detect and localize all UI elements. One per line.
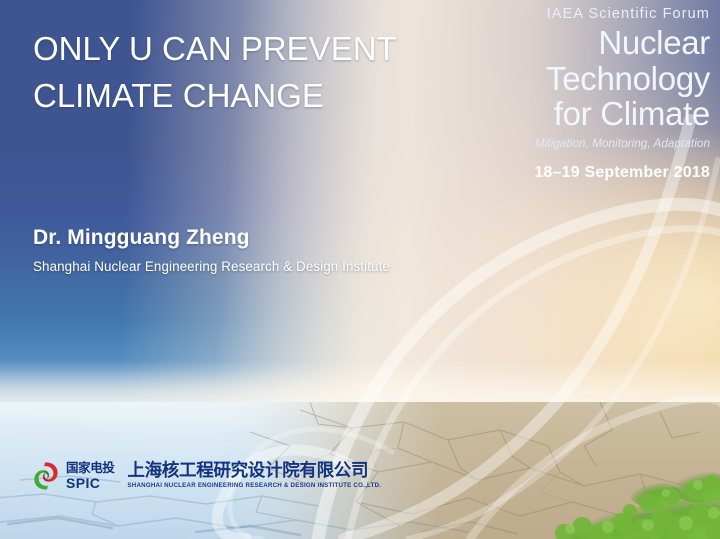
- headline-line-1: ONLY U CAN PREVENT: [33, 26, 463, 73]
- spic-chinese-name: 国家电投: [66, 462, 114, 475]
- spic-swirl-icon: [33, 461, 59, 491]
- event-title-line-3: for Climate: [460, 96, 710, 132]
- institute-wordmark: 上海核工程研究设计院有限公司 SHANGHAI NUCLEAR ENGINEER…: [127, 463, 381, 489]
- grass-patch: [530, 453, 720, 539]
- institute-english-name: SHANGHAI NUCLEAR ENGINEERING RESEARCH & …: [127, 483, 381, 489]
- event-kicker: IAEA Scientific Forum: [460, 6, 710, 22]
- event-title-line-2: Technology: [460, 61, 710, 97]
- event-subtitle: Mitigation, Monitoring, Adaptation: [460, 137, 710, 150]
- author-block: Dr. Mingguang Zheng Shanghai Nuclear Eng…: [33, 226, 390, 274]
- spic-wordmark: 国家电投 SPIC: [66, 462, 114, 490]
- logo-lockup: 国家电投 SPIC 上海核工程研究设计院有限公司 SHANGHAI NUCLEA…: [33, 461, 381, 491]
- institute-chinese-name: 上海核工程研究设计院有限公司: [127, 463, 381, 481]
- event-title-line-1: Nuclear: [460, 25, 710, 61]
- event-banner: IAEA Scientific Forum Nuclear Technology…: [460, 6, 710, 182]
- author-name: Dr. Mingguang Zheng: [33, 226, 390, 250]
- headline-line-2: CLIMATE CHANGE: [33, 73, 463, 120]
- title-slide: ONLY U CAN PREVENT CLIMATE CHANGE Dr. Mi…: [0, 0, 720, 539]
- event-dates: 18–19 September 2018: [460, 164, 710, 182]
- page-title: ONLY U CAN PREVENT CLIMATE CHANGE: [33, 26, 463, 120]
- author-affiliation: Shanghai Nuclear Engineering Research & …: [33, 259, 390, 274]
- spic-latin-name: SPIC: [66, 476, 114, 490]
